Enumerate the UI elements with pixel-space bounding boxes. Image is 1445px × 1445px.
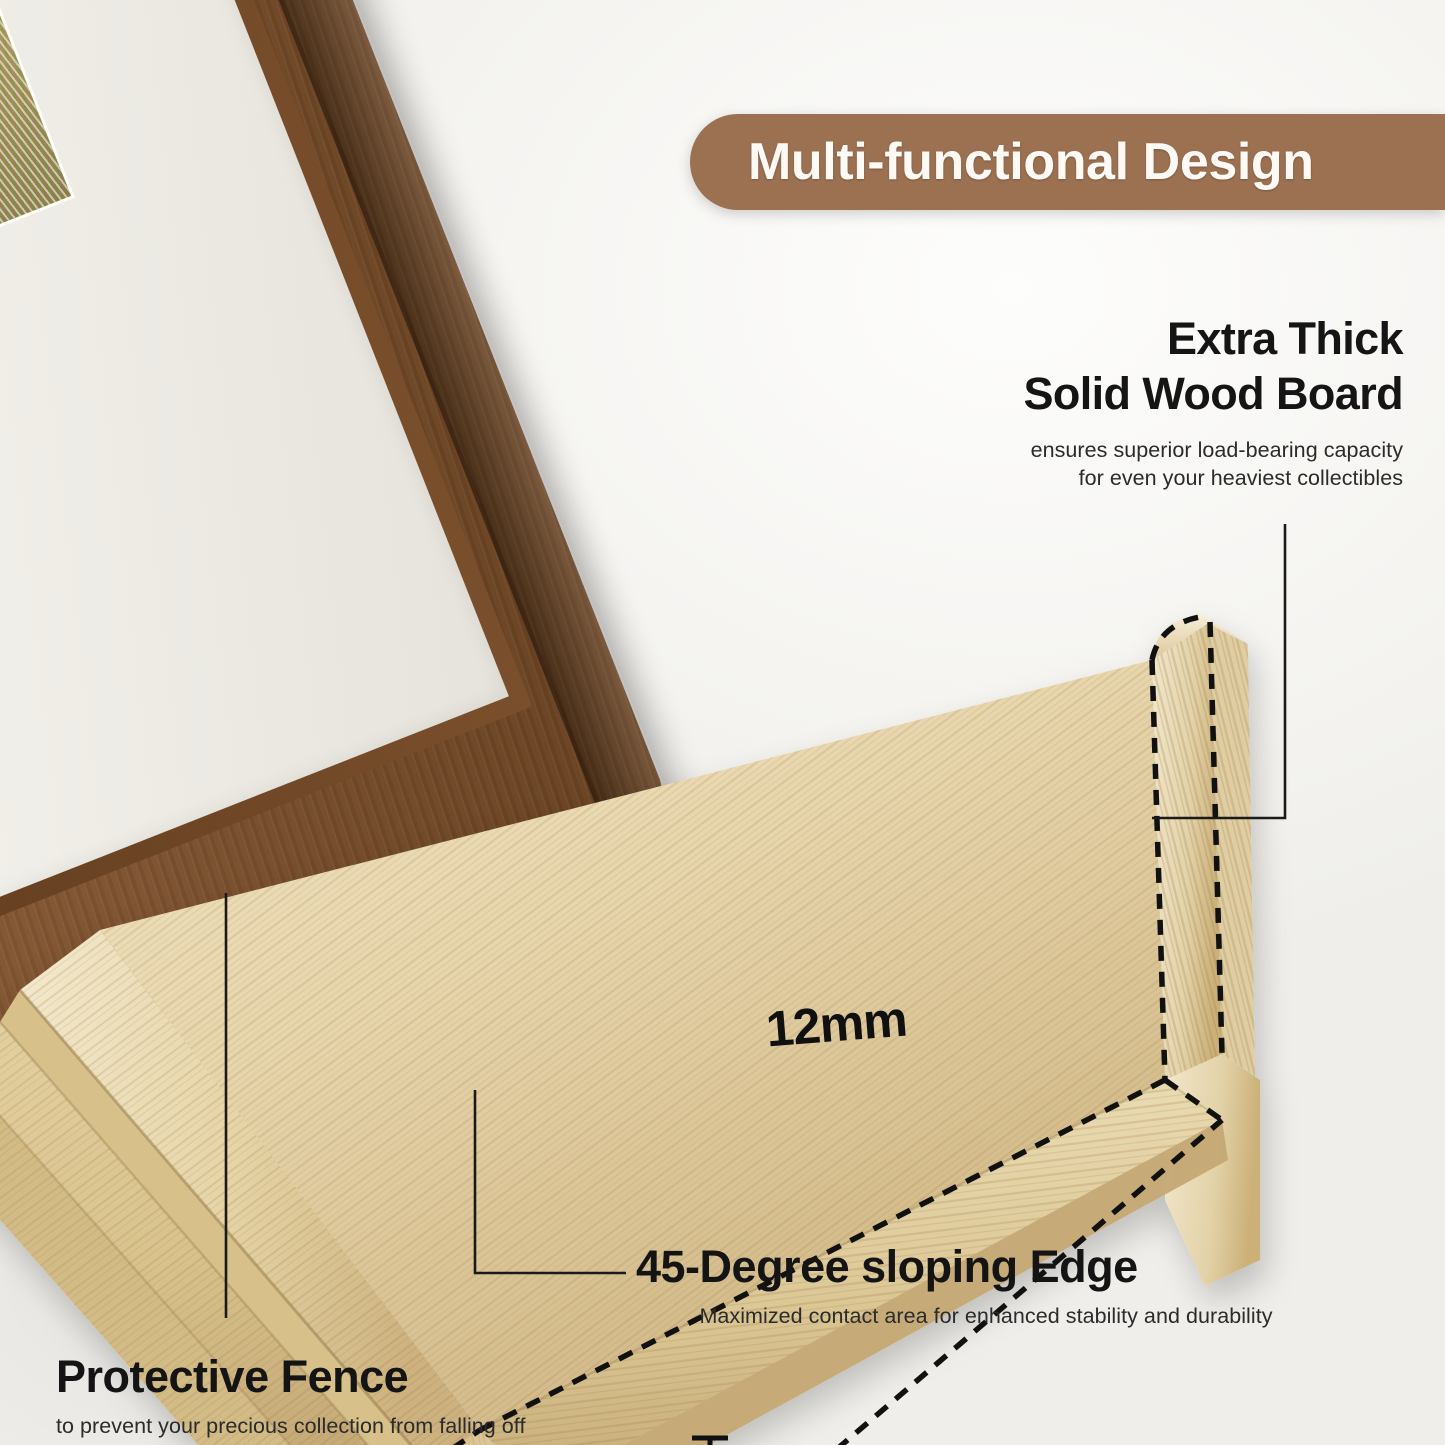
callout-heading-line2: Solid Wood Board [933,367,1403,422]
headline-banner-label: Multi-functional Design [748,132,1314,192]
callout-extra-thick-solid-wood-board: Extra Thick Solid Wood Board ensures sup… [933,312,1403,493]
product-infographic: 12mm Multi-functional Design Extra Thick… [0,0,1445,1445]
callout-sub: Maximized contact area for enhanced stab… [636,1304,1336,1329]
callout-sub-line1: ensures superior load-bearing capacity [933,436,1403,465]
callout-protective-fence: Protective Fence to prevent your preciou… [56,1352,676,1439]
shelf-render [0,560,1280,1260]
photo-texture [0,0,71,354]
callout-heading: 45-Degree sloping Edge [636,1242,1336,1292]
thickness-label: 12mm [764,990,909,1059]
callout-sub-line2: for even your heaviest collectibles [933,464,1403,493]
callout-sub: to prevent your precious collection from… [56,1414,676,1439]
callout-heading: Protective Fence [56,1352,676,1402]
floating-wall-shelf [0,560,1280,1260]
callout-45-degree-sloping-edge: 45-Degree sloping Edge Maximized contact… [636,1242,1336,1329]
framed-photograph [0,0,71,354]
headline-banner: Multi-functional Design [690,114,1445,210]
callout-heading-line1: Extra Thick [933,312,1403,367]
